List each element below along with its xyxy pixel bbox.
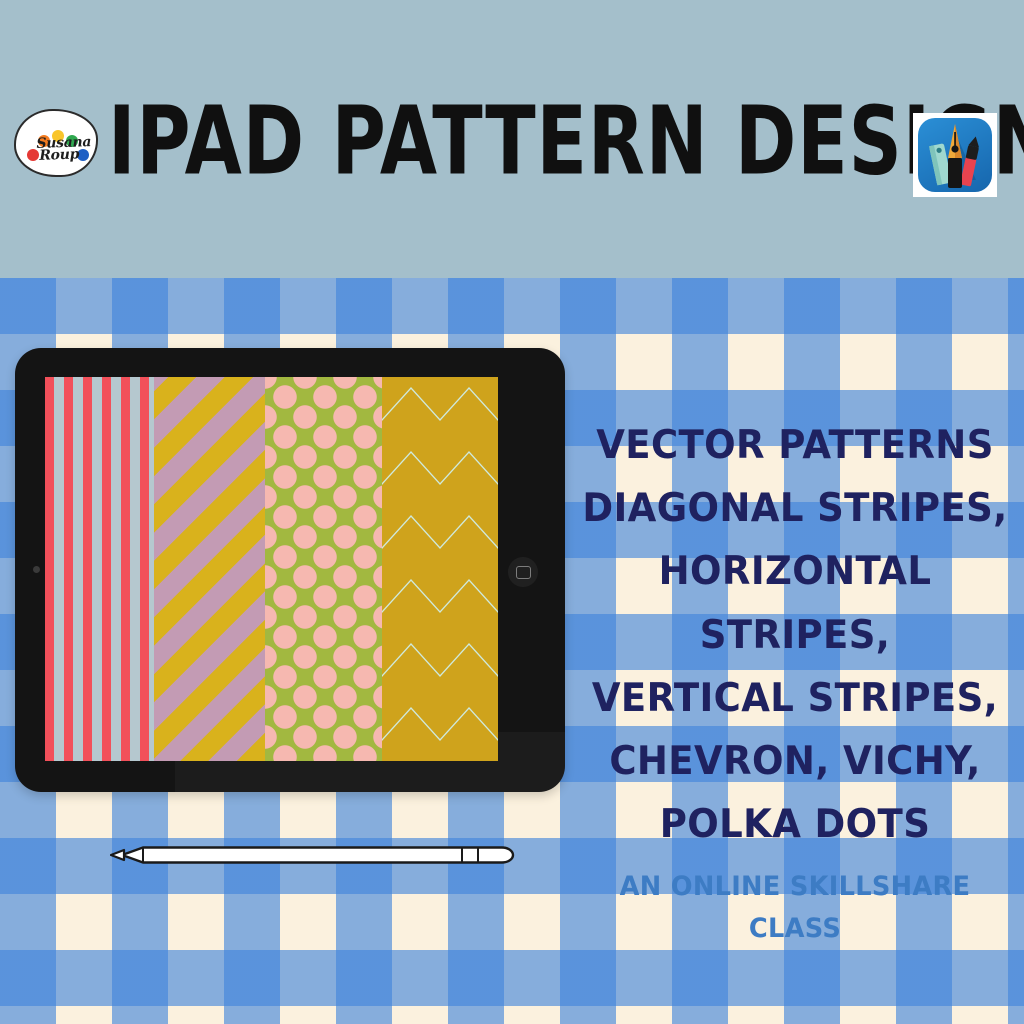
home-square-icon xyxy=(516,566,531,579)
pattern-panel-diagonal-stripes xyxy=(154,377,265,761)
feature-list: VECTOR PATTERNS DIAGONAL STRIPES, HORIZO… xyxy=(566,414,1024,856)
ipad-home-button[interactable] xyxy=(508,557,538,587)
palette-body: Susana Roup xyxy=(14,109,98,177)
pattern-panel-vertical-stripes xyxy=(45,377,154,761)
ipad-front-camera xyxy=(33,566,40,573)
subtitle-line: CLASS xyxy=(577,908,1012,950)
affinity-designer-app-icon[interactable] xyxy=(918,118,992,192)
feature-line: VERTICAL STRIPES, xyxy=(577,667,1012,730)
ipad-mockup xyxy=(15,348,565,792)
feature-line: DIAGONAL STRIPES, xyxy=(577,477,1012,540)
feature-line: CHEVRON, VICHY, xyxy=(577,730,1012,793)
brand-name: Susana Roup xyxy=(28,136,101,163)
feature-line: POLKA DOTS xyxy=(577,793,1012,856)
title-row: Susana Roup IPAD PATTERN DESIGN xyxy=(0,86,1024,196)
poster-canvas: Susana Roup IPAD PATTERN DESIGN xyxy=(0,0,1024,1024)
page-title: IPAD PATTERN DESIGN xyxy=(108,94,1024,188)
ipad-screen[interactable] xyxy=(45,377,498,761)
apple-pencil[interactable] xyxy=(110,840,538,870)
app-icon-frame xyxy=(913,113,997,197)
class-subtitle: AN ONLINE SKILLSHARE CLASS xyxy=(566,866,1024,950)
feature-line: VECTOR PATTERNS xyxy=(577,414,1012,477)
pattern-panel-polka-dots xyxy=(265,377,382,761)
subtitle-line: AN ONLINE SKILLSHARE xyxy=(577,866,1012,908)
feature-line: HORIZONTAL STRIPES, xyxy=(577,540,1012,666)
brand-logo[interactable]: Susana Roup xyxy=(8,101,100,181)
pattern-panel-chevron xyxy=(382,377,498,761)
